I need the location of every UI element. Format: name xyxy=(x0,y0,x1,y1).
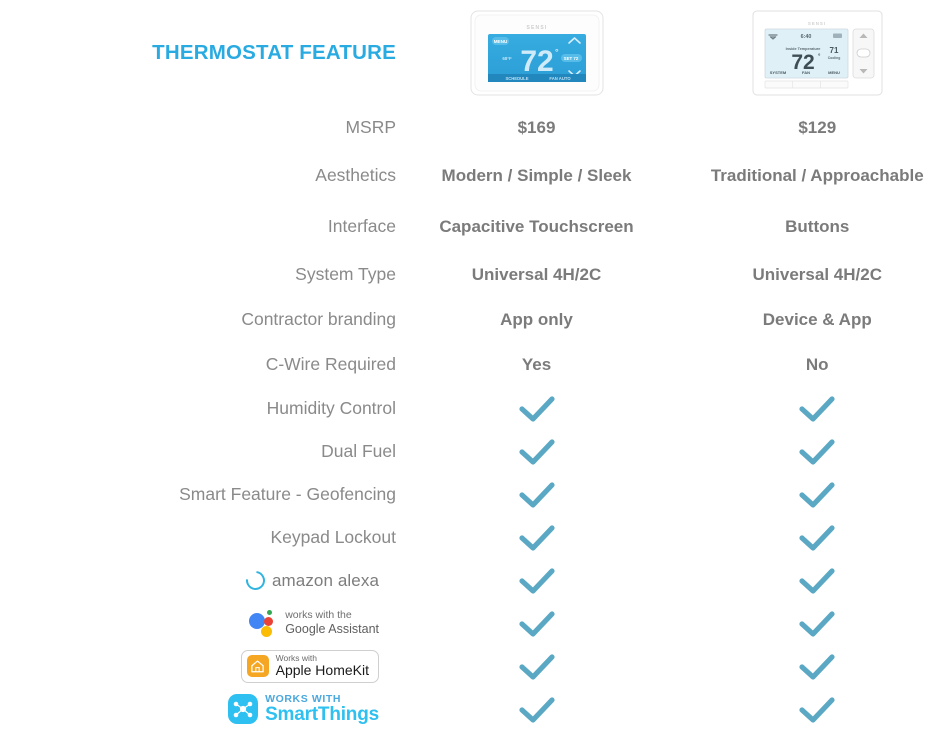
feature-label: Smart Feature - Geofencing xyxy=(179,484,396,504)
value-cell xyxy=(396,645,677,688)
logo-amazon-alexa: amazon alexa xyxy=(43,559,396,602)
table-row: Dual Fuel xyxy=(43,430,946,473)
checkmark-icon xyxy=(517,696,557,724)
checkmark-icon xyxy=(517,524,557,552)
value-cell xyxy=(677,688,946,731)
feature-logo-cell: Works withApple HomeKit xyxy=(43,645,396,688)
table-row: Smart Feature - Geofencing xyxy=(43,473,946,516)
svg-text:68°F: 68°F xyxy=(502,56,512,61)
header-title-cell: THERMOSTAT FEATURE xyxy=(43,0,396,105)
feature-label: C-Wire Required xyxy=(266,354,396,374)
homekit-house-icon xyxy=(247,655,269,677)
table-row: System TypeUniversal 4H/2CUniversal 4H/2… xyxy=(43,252,946,297)
value-text: Buttons xyxy=(785,217,849,236)
value-text: No xyxy=(806,355,829,374)
checkmark-icon xyxy=(797,610,837,638)
feature-label-cell: Aesthetics xyxy=(43,150,396,201)
checkmark-icon xyxy=(797,481,837,509)
value-cell xyxy=(677,430,946,473)
table-row: WORKS WITHSmartThings xyxy=(43,688,946,731)
value-cell xyxy=(677,473,946,516)
value-cell xyxy=(396,602,677,645)
alexa-label: amazon alexa xyxy=(272,570,379,591)
checkmark-icon xyxy=(517,610,557,638)
table-row: works with theGoogle Assistant xyxy=(43,602,946,645)
feature-label-cell: MSRP xyxy=(43,105,396,150)
traditional-button-thermostat-image: SENSI 6:40 Inside Temperature 72 ° 71 Co… xyxy=(745,5,890,101)
feature-label: Interface xyxy=(328,216,396,236)
checkmark-icon xyxy=(797,653,837,681)
svg-text:°: ° xyxy=(555,47,559,57)
value-cell xyxy=(396,430,677,473)
feature-label: Aesthetics xyxy=(315,165,396,185)
svg-text:MENU: MENU xyxy=(493,39,507,44)
value-cell xyxy=(396,387,677,430)
table-row: Humidity Control xyxy=(43,387,946,430)
feature-label-cell: C-Wire Required xyxy=(43,342,396,387)
svg-text:SET 72: SET 72 xyxy=(563,56,578,61)
smartthings-label: WORKS WITHSmartThings xyxy=(265,694,379,724)
alexa-ring-icon xyxy=(242,567,269,594)
value-cell: $129 xyxy=(677,105,946,150)
svg-text:SCHEDULE: SCHEDULE xyxy=(505,75,528,80)
checkmark-icon xyxy=(517,438,557,466)
value-text: Universal 4H/2C xyxy=(753,265,882,284)
table-row: InterfaceCapacitive TouchscreenButtons xyxy=(43,201,946,252)
value-cell xyxy=(677,602,946,645)
value-cell xyxy=(677,387,946,430)
value-cell: Device & App xyxy=(677,297,946,342)
google-assistant-label: works with theGoogle Assistant xyxy=(285,609,379,637)
feature-label: MSRP xyxy=(345,117,396,137)
product-image-cell-1: SENSI MENU 72 ° 68°F SET 72 SCHEDULE F xyxy=(396,0,677,105)
value-text: Traditional / Approachable xyxy=(711,166,924,185)
checkmark-icon xyxy=(797,438,837,466)
value-text: Modern / Simple / Sleek xyxy=(442,166,632,185)
feature-label-cell: Smart Feature - Geofencing xyxy=(43,473,396,516)
checkmark-icon xyxy=(517,567,557,595)
value-cell: Traditional / Approachable xyxy=(677,150,946,201)
table-row: Keypad Lockout xyxy=(43,516,946,559)
feature-label-cell: Humidity Control xyxy=(43,387,396,430)
table-row: MSRP$169$129 xyxy=(43,105,946,150)
feature-label: Humidity Control xyxy=(267,398,396,418)
feature-label-cell: Keypad Lockout xyxy=(43,516,396,559)
checkmark-icon xyxy=(517,395,557,423)
value-cell xyxy=(396,516,677,559)
value-text: App only xyxy=(500,310,573,329)
value-cell xyxy=(677,645,946,688)
value-cell: Universal 4H/2C xyxy=(396,252,677,297)
checkmark-icon xyxy=(797,395,837,423)
table-row: Contractor brandingApp onlyDevice & App xyxy=(43,297,946,342)
google-assistant-dots-icon xyxy=(249,609,276,637)
value-text: Universal 4H/2C xyxy=(472,265,601,284)
svg-text:6:40: 6:40 xyxy=(800,34,811,40)
value-text: $129 xyxy=(798,118,836,137)
checkmark-icon xyxy=(517,481,557,509)
checkmark-icon xyxy=(797,567,837,595)
value-text: Yes xyxy=(522,355,551,374)
feature-label-cell: Interface xyxy=(43,201,396,252)
svg-text:SENSI: SENSI xyxy=(526,25,547,31)
feature-logo-cell: works with theGoogle Assistant xyxy=(43,602,396,645)
value-text: Device & App xyxy=(763,310,872,329)
svg-text:Cooling: Cooling xyxy=(827,56,840,60)
table-header-row: THERMOSTAT FEATURE SENSI xyxy=(43,0,946,105)
svg-text:SYSTEM: SYSTEM xyxy=(770,70,787,75)
svg-text:SENSI: SENSI xyxy=(808,21,826,26)
value-text: Capacitive Touchscreen xyxy=(439,217,633,236)
value-cell: $169 xyxy=(396,105,677,150)
homekit-label: Works withApple HomeKit xyxy=(276,654,369,679)
feature-label-cell: Dual Fuel xyxy=(43,430,396,473)
feature-label: Dual Fuel xyxy=(321,441,396,461)
logo-google-assistant: works with theGoogle Assistant xyxy=(43,602,396,645)
feature-label-cell: Contractor branding xyxy=(43,297,396,342)
feature-label: Contractor branding xyxy=(241,309,396,329)
svg-text:72: 72 xyxy=(520,45,553,78)
table-row: AestheticsModern / Simple / SleekTraditi… xyxy=(43,150,946,201)
value-cell xyxy=(677,516,946,559)
table-row: C-Wire RequiredYesNo xyxy=(43,342,946,387)
feature-logo-cell: WORKS WITHSmartThings xyxy=(43,688,396,731)
smartthings-nodes-icon xyxy=(228,694,258,724)
value-cell: Modern / Simple / Sleek xyxy=(396,150,677,201)
value-cell xyxy=(677,559,946,602)
svg-text:71: 71 xyxy=(829,46,838,55)
svg-text:MENU: MENU xyxy=(828,70,840,75)
value-cell: Capacitive Touchscreen xyxy=(396,201,677,252)
svg-text:FAN AUTO: FAN AUTO xyxy=(549,75,571,80)
checkmark-icon xyxy=(517,653,557,681)
table-row: amazon alexa xyxy=(43,559,946,602)
product-image-cell-2: SENSI 6:40 Inside Temperature 72 ° 71 Co… xyxy=(677,0,946,105)
feature-logo-cell: amazon alexa xyxy=(43,559,396,602)
smart-touchscreen-thermostat-image: SENSI MENU 72 ° 68°F SET 72 SCHEDULE F xyxy=(461,5,613,101)
value-cell xyxy=(396,559,677,602)
logo-apple-homekit: Works withApple HomeKit xyxy=(43,645,396,688)
svg-text:FAN: FAN xyxy=(802,70,810,75)
value-text: $169 xyxy=(518,118,556,137)
feature-label: System Type xyxy=(295,264,396,284)
page-title: THERMOSTAT FEATURE xyxy=(152,41,396,64)
value-cell: Yes xyxy=(396,342,677,387)
value-cell: App only xyxy=(396,297,677,342)
checkmark-icon xyxy=(797,696,837,724)
value-cell xyxy=(396,688,677,731)
thermostat-comparison-table: THERMOSTAT FEATURE SENSI xyxy=(43,0,946,731)
feature-label: Keypad Lockout xyxy=(270,527,396,547)
value-cell: Buttons xyxy=(677,201,946,252)
comparison-sheet: THERMOSTAT FEATURE SENSI xyxy=(0,0,946,748)
checkmark-icon xyxy=(797,524,837,552)
feature-label-cell: System Type xyxy=(43,252,396,297)
logo-smartthings: WORKS WITHSmartThings xyxy=(43,688,396,731)
value-cell: Universal 4H/2C xyxy=(677,252,946,297)
value-cell: No xyxy=(677,342,946,387)
table-row: Works withApple HomeKit xyxy=(43,645,946,688)
value-cell xyxy=(396,473,677,516)
